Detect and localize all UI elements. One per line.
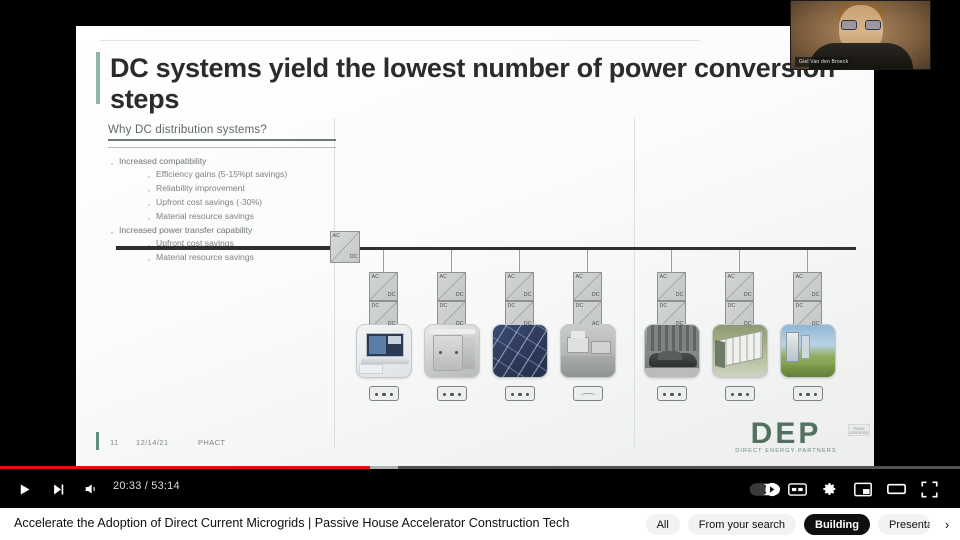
chip-building[interactable]: Building <box>804 514 870 535</box>
volume-button[interactable] <box>79 478 103 500</box>
slide-title: DC systems yield the lowest number of po… <box>110 53 850 115</box>
why-dc-heading: Why DC distribution systems? <box>108 124 370 139</box>
converter-input-label: AC <box>508 275 516 280</box>
title-accent-bar <box>96 52 100 104</box>
converter-output-label: DC <box>456 322 464 327</box>
autoplay-toggle[interactable] <box>748 478 782 500</box>
converter-ac-dc: AC DC <box>793 272 822 301</box>
certification-mark: PHIUSCERTIFIED <box>848 424 870 436</box>
chip-from-your-search[interactable]: From your search <box>688 514 796 535</box>
separator-line-right <box>634 118 635 448</box>
converter-input-label: DC <box>660 304 668 309</box>
converter-output-label: DC <box>744 293 752 298</box>
converter-output-label: DC <box>676 322 684 327</box>
theater-mode-button[interactable] <box>884 478 908 500</box>
converter-input-label: DC <box>372 304 380 309</box>
bullet-subitem: Efficiency gains (5-15%pt savings) <box>145 168 370 182</box>
why-dc-rule <box>108 139 336 141</box>
progress-played <box>0 466 370 469</box>
plug-icon-three-pin <box>657 386 687 401</box>
device-electric-vehicle <box>644 324 700 378</box>
plug-icon-three-pin <box>369 386 399 401</box>
converter-output-label: DC <box>524 293 532 298</box>
play-button[interactable] <box>12 478 36 500</box>
speaker-name-label: Giel Van den Broeck <box>795 57 852 67</box>
bullet-sublist: Efficiency gains (5-15%pt savings) Relia… <box>145 168 370 224</box>
video-player[interactable]: DC systems yield the lowest number of po… <box>0 0 960 508</box>
plug-icon-three-pin <box>437 386 467 401</box>
video-stage[interactable]: DC systems yield the lowest number of po… <box>0 0 960 466</box>
converter-input-label: AC <box>440 275 448 280</box>
bullet-label: Increased compatibility <box>119 156 206 166</box>
converter-output-label: DC <box>350 255 358 260</box>
settings-gear-button[interactable] <box>818 478 842 500</box>
filter-chip-bar: All From your search Building Presentati… <box>646 514 960 535</box>
converter-main-ac-dc: AC DC <box>330 231 360 263</box>
device-battery-storage <box>712 324 768 378</box>
converter-ac-dc: AC DC <box>369 272 398 301</box>
converter-input-label: AC <box>576 275 584 280</box>
bullet-subitem: Material resource savings <box>145 210 370 224</box>
converter-input-label: AC <box>796 275 804 280</box>
miniplayer-button[interactable] <box>851 478 875 500</box>
chip-presentation[interactable]: Presentation <box>878 514 930 535</box>
chip-all[interactable]: All <box>646 514 680 535</box>
converter-input-label: DC <box>440 304 448 309</box>
converter-input-label: DC <box>796 304 804 309</box>
converter-ac-dc: AC DC <box>573 272 602 301</box>
video-title[interactable]: Accelerate the Adoption of Direct Curren… <box>14 516 569 530</box>
device-solar-panel <box>492 324 548 378</box>
player-control-bar: 20:33 / 53:14 <box>0 470 960 508</box>
plug-icon-blank <box>573 386 603 401</box>
slide-project-label: PHACT <box>198 438 225 447</box>
converter-output-label: AC <box>592 322 600 327</box>
converter-input-label: DC <box>728 304 736 309</box>
branch-drop-line <box>587 250 588 272</box>
slide-date: 12/14/21 <box>136 438 168 447</box>
why-dc-rule-thin <box>108 147 336 148</box>
presentation-slide: DC systems yield the lowest number of po… <box>76 26 874 466</box>
speaker-webcam-overlay: Giel Van den Broeck <box>790 0 931 70</box>
slide-top-rule <box>100 40 700 41</box>
chevron-right-icon[interactable]: › <box>938 517 956 532</box>
plug-icon-three-pin <box>725 386 755 401</box>
converter-input-label: AC <box>728 275 736 280</box>
footer-accent-bar <box>96 432 99 450</box>
dep-logo-tagline: DIRECT ENERGY PARTNERS <box>720 448 852 454</box>
webcam-glasses <box>841 20 881 30</box>
converter-input-label: DC <box>508 304 516 309</box>
bullet-label: Increased power transfer capability <box>119 225 252 235</box>
plug-icon-three-pin <box>505 386 535 401</box>
plug-icon-three-pin <box>793 386 823 401</box>
converter-output-label: DC <box>388 322 396 327</box>
subtitles-cc-button[interactable] <box>785 478 809 500</box>
branch-drop-line <box>519 250 520 272</box>
converter-output-label: DC <box>812 322 820 327</box>
branch-drop-line <box>807 250 808 272</box>
converter-ac-dc: AC DC <box>725 272 754 301</box>
converter-ac-dc: AC DC <box>657 272 686 301</box>
converter-ac-dc: AC DC <box>437 272 466 301</box>
device-laptop-computer <box>356 324 412 378</box>
converter-output-label: DC <box>524 322 532 327</box>
converter-output-label: DC <box>456 293 464 298</box>
bullet-item: Increased compatibility Efficiency gains… <box>108 155 370 224</box>
branch-drop-line <box>739 250 740 272</box>
youtube-watch-page: DC systems yield the lowest number of po… <box>0 0 960 540</box>
ac-bus-bar <box>116 247 856 250</box>
device-appliance-refrigerator <box>424 324 480 378</box>
converter-output-label: DC <box>388 293 396 298</box>
converter-input-label: AC <box>333 234 341 239</box>
converter-output-label: DC <box>812 293 820 298</box>
converter-input-label: AC <box>372 275 380 280</box>
converter-output-label: DC <box>744 322 752 327</box>
converter-ac-dc: AC DC <box>505 272 534 301</box>
converter-input-label: DC <box>576 304 584 309</box>
device-rooftop-hvac-unit <box>560 324 616 378</box>
fullscreen-button[interactable] <box>916 478 942 500</box>
converter-output-label: DC <box>676 293 684 298</box>
bullet-subitem: Reliability improvement <box>145 182 370 196</box>
next-video-button[interactable] <box>46 478 70 500</box>
bullet-subitem: Upfront cost savings (-30%) <box>145 196 370 210</box>
below-player-row: Accelerate the Adoption of Direct Curren… <box>0 508 960 540</box>
slide-page-number: 11 <box>110 438 119 447</box>
time-display: 20:33 / 53:14 <box>113 480 180 492</box>
branch-drop-line <box>671 250 672 272</box>
dep-logo-word: DEP <box>720 420 852 447</box>
branch-drop-line <box>383 250 384 272</box>
dep-logo: DEP DIRECT ENERGY PARTNERS <box>720 420 852 454</box>
branch-drop-line <box>451 250 452 272</box>
converter-input-label: AC <box>660 275 668 280</box>
converter-output-label: DC <box>592 293 600 298</box>
device-ev-charging-station <box>780 324 836 378</box>
